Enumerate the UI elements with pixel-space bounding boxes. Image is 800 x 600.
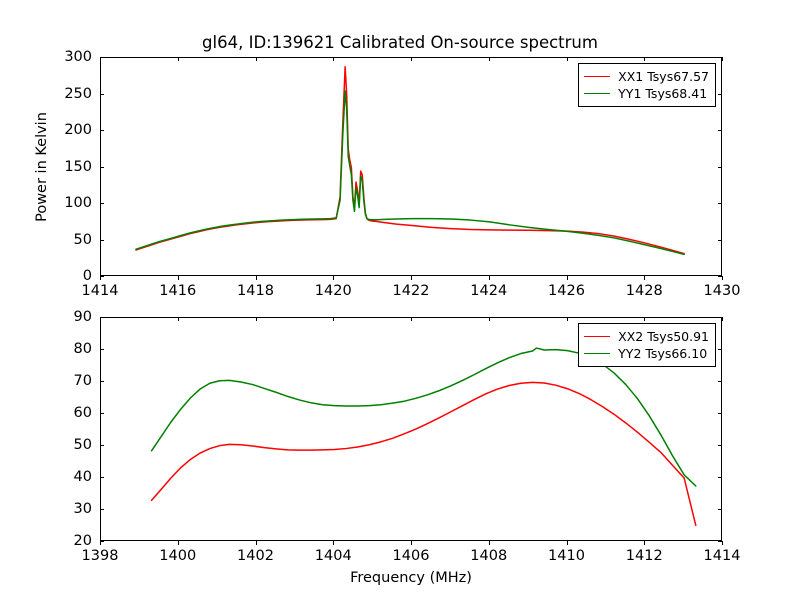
y-tickmark xyxy=(100,57,104,58)
figure-title: gl64, ID:139621 Calibrated On-source spe… xyxy=(0,33,800,52)
x-tickmark xyxy=(256,276,257,280)
x-tick-label: 1398 xyxy=(82,548,119,564)
y-tick-label: 70 xyxy=(0,373,92,389)
y-tick-label: 30 xyxy=(0,501,92,517)
y-tickmark xyxy=(100,509,104,510)
legend-color-swatch-yy xyxy=(584,353,610,354)
y-tick-label: 40 xyxy=(0,469,92,485)
x-tick-label: 1414 xyxy=(704,548,741,564)
x-tickmark-top xyxy=(256,57,257,61)
legend-label: YY1 Tsys68.41 xyxy=(618,86,707,101)
x-tickmark-top xyxy=(722,57,723,61)
y-tick-label: 0 xyxy=(0,268,92,284)
x-tickmark xyxy=(333,276,334,280)
y-tickmark xyxy=(100,203,104,204)
legend-entry: YY1 Tsys68.41 xyxy=(584,85,709,102)
y-tickmark xyxy=(100,276,104,277)
x-tickmark-top xyxy=(411,317,412,321)
x-tick-label: 1410 xyxy=(548,548,585,564)
x-tickmark xyxy=(567,541,568,545)
x-tickmark xyxy=(178,276,179,280)
y-axis-label: Power in Kelvin xyxy=(34,112,50,222)
legend-label: XX2 Tsys50.91 xyxy=(618,329,709,344)
x-tick-label: 1426 xyxy=(548,283,585,299)
y-tickmark-right xyxy=(718,94,722,95)
x-tick-label: 1430 xyxy=(704,283,741,299)
x-tickmark xyxy=(489,541,490,545)
y-tickmark xyxy=(100,349,104,350)
x-tick-label: 1416 xyxy=(159,283,196,299)
legend-entry: YY2 Tsys66.10 xyxy=(584,345,709,362)
x-tick-label: 1406 xyxy=(393,548,430,564)
y-tickmark-right xyxy=(718,413,722,414)
legend-entry: XX1 Tsys67.57 xyxy=(584,68,709,85)
x-tick-label: 1420 xyxy=(315,283,352,299)
spectrum-line-xx xyxy=(152,382,696,525)
x-tickmark xyxy=(722,541,723,545)
y-tickmark xyxy=(100,413,104,414)
y-tickmark xyxy=(100,317,104,318)
y-tickmark xyxy=(100,541,104,542)
x-tick-label: 1412 xyxy=(626,548,663,564)
y-tickmark-right xyxy=(718,349,722,350)
x-tickmark xyxy=(411,276,412,280)
x-tick-label: 1424 xyxy=(470,283,507,299)
x-tickmark xyxy=(644,276,645,280)
y-tickmark-right xyxy=(718,445,722,446)
legend-color-swatch-yy xyxy=(584,93,610,94)
x-tickmark-top xyxy=(644,317,645,321)
spectrum-line-yy xyxy=(152,348,696,486)
x-tick-label: 1408 xyxy=(470,548,507,564)
x-axis-label: Frequency (MHz) xyxy=(350,570,472,586)
x-tickmark xyxy=(567,276,568,280)
y-tickmark-right xyxy=(718,509,722,510)
legend-color-swatch-xx xyxy=(584,336,610,337)
y-tickmark-right xyxy=(718,317,722,318)
matplotlib-figure: gl64, ID:139621 Calibrated On-source spe… xyxy=(0,0,800,600)
legend-label: YY2 Tsys66.10 xyxy=(618,346,707,361)
y-tick-label: 250 xyxy=(0,86,92,102)
y-tick-label: 300 xyxy=(0,49,92,65)
y-tickmark-right xyxy=(718,167,722,168)
y-tickmark xyxy=(100,130,104,131)
x-tickmark-top xyxy=(489,317,490,321)
y-tick-label: 50 xyxy=(0,437,92,453)
x-tickmark xyxy=(411,541,412,545)
y-tickmark xyxy=(100,381,104,382)
x-tickmark xyxy=(489,276,490,280)
y-tickmark-right xyxy=(718,130,722,131)
y-tickmark xyxy=(100,445,104,446)
x-tickmark xyxy=(722,276,723,280)
x-tickmark-top xyxy=(333,57,334,61)
x-tickmark-top xyxy=(722,317,723,321)
x-tickmark-top xyxy=(411,57,412,61)
spectrum-line-yy xyxy=(136,91,684,255)
x-tickmark xyxy=(256,541,257,545)
x-tickmark-top xyxy=(567,57,568,61)
x-tickmark-top xyxy=(567,317,568,321)
y-tickmark-right xyxy=(718,276,722,277)
y-tick-label: 50 xyxy=(0,232,92,248)
x-tickmark-top xyxy=(256,317,257,321)
top-plot-legend: XX1 Tsys67.57YY1 Tsys68.41 xyxy=(578,63,716,107)
legend-color-swatch-xx xyxy=(584,76,610,77)
y-tickmark-right xyxy=(718,381,722,382)
y-tickmark xyxy=(100,167,104,168)
x-tick-label: 1422 xyxy=(393,283,430,299)
y-tick-label: 80 xyxy=(0,341,92,357)
x-tickmark-top xyxy=(178,57,179,61)
y-tickmark xyxy=(100,94,104,95)
x-tickmark-top xyxy=(489,57,490,61)
bottom-plot-legend: XX2 Tsys50.91YY2 Tsys66.10 xyxy=(578,323,716,367)
x-tickmark xyxy=(333,541,334,545)
y-tickmark xyxy=(100,240,104,241)
y-tickmark-right xyxy=(718,477,722,478)
x-tickmark xyxy=(644,541,645,545)
y-tickmark-right xyxy=(718,57,722,58)
x-tick-label: 1428 xyxy=(626,283,663,299)
x-tick-label: 1414 xyxy=(82,283,119,299)
x-tick-label: 1404 xyxy=(315,548,352,564)
y-tickmark-right xyxy=(718,240,722,241)
y-tick-label: 90 xyxy=(0,309,92,325)
x-tick-label: 1400 xyxy=(159,548,196,564)
y-tickmark-right xyxy=(718,541,722,542)
x-tickmark-top xyxy=(333,317,334,321)
x-tick-label: 1402 xyxy=(237,548,274,564)
y-tick-label: 60 xyxy=(0,405,92,421)
legend-label: XX1 Tsys67.57 xyxy=(618,69,709,84)
x-tickmark-top xyxy=(644,57,645,61)
x-tick-label: 1418 xyxy=(237,283,274,299)
y-tickmark xyxy=(100,477,104,478)
x-tickmark xyxy=(178,541,179,545)
y-tick-label: 20 xyxy=(0,533,92,549)
y-tickmark-right xyxy=(718,203,722,204)
x-tickmark-top xyxy=(178,317,179,321)
legend-entry: XX2 Tsys50.91 xyxy=(584,328,709,345)
